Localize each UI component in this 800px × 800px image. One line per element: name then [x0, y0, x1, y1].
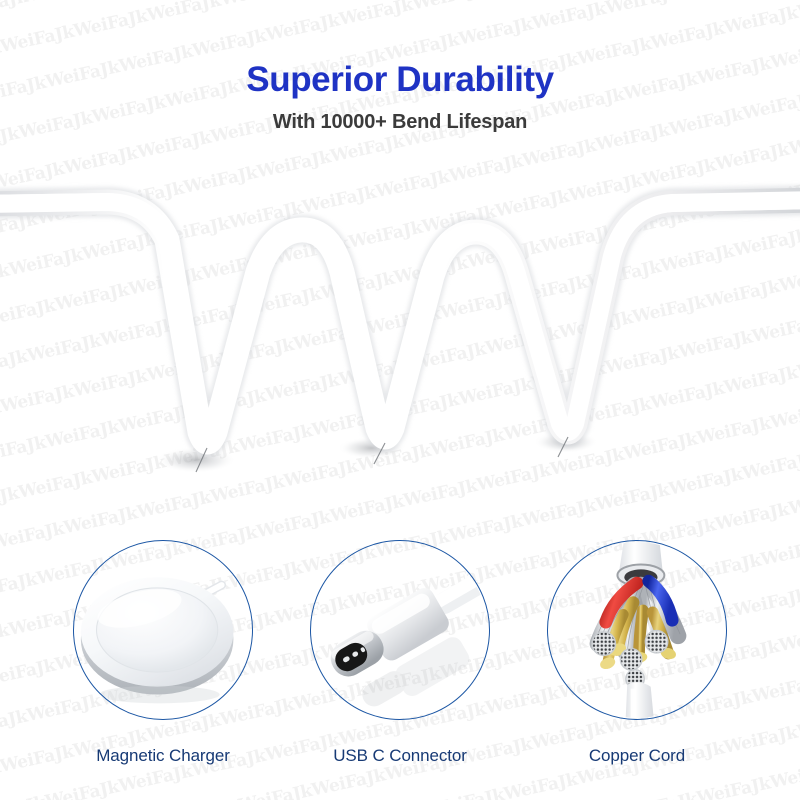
product-marketing-image: WeiFaJkWeiFaJkWeiFaJkWeiFaJkWeiFaJkWeiFa…: [0, 0, 800, 800]
watermark-text: WeiFaJk: [546, 793, 629, 800]
watermark-text: WeiFaJk: [647, 7, 730, 66]
headline-block: Superior Durability With 10000+ Bend Lif…: [0, 62, 800, 134]
feature-ring-3: [547, 540, 727, 720]
watermark-text: WeiFaJk: [455, 3, 538, 62]
watermark-text: WeiFaJk: [335, 0, 418, 42]
watermark-text: WeiFaJk: [793, 0, 800, 34]
feature-circle-1: [73, 540, 253, 720]
watermark-text: WeiFaJk: [289, 0, 372, 6]
feature-ring-1: [73, 540, 253, 720]
bent-cable-illustration: [0, 160, 800, 500]
feature-label-magnetic-charger: Magnetic Charger: [96, 746, 230, 766]
watermark-text: WeiFaJk: [353, 789, 436, 800]
feature-magnetic-charger[interactable]: Magnetic Charger: [45, 540, 282, 766]
feature-circle-3: [547, 540, 727, 720]
feature-ring-2: [310, 540, 490, 720]
watermark-text: WeiFaJk: [528, 0, 611, 46]
watermark-text: WeiFaJk: [96, 0, 179, 2]
watermark-text: WeiFaJk: [261, 0, 344, 57]
watermark-text: WeiFaJk: [143, 0, 226, 38]
feature-callout-row: Magnetic Charger: [0, 540, 800, 790]
watermark-text: WeiFaJk: [0, 0, 32, 34]
watermark-text: WeiFaJk: [720, 0, 800, 50]
watermark-row: WeiFaJkWeiFaJkWeiFaJkWeiFaJkWeiFaJkWeiFa…: [0, 0, 800, 29]
watermark-text: WeiFaJk: [482, 0, 565, 10]
feature-usb-c-connector[interactable]: USB C Connector: [282, 540, 519, 766]
watermark-text: WeiFaJk: [0, 10, 79, 69]
feature-label-usb-c-connector: USB C Connector: [333, 746, 467, 766]
watermark-text: WeiFaJk: [69, 0, 152, 53]
watermark-text: WeiFaJk: [408, 0, 491, 26]
watermark-text: WeiFaJk: [601, 0, 684, 30]
watermark-text: WeiFaJk: [23, 0, 106, 18]
feature-label-copper-cord: Copper Cord: [589, 746, 685, 766]
page-title: Superior Durability: [0, 62, 800, 99]
watermark-text: WeiFaJk: [216, 0, 299, 22]
feature-copper-cord[interactable]: Copper Cord: [519, 540, 756, 766]
watermark-row: WeiFaJkWeiFaJkWeiFaJkWeiFaJkWeiFaJkWeiFa…: [0, 791, 800, 800]
page-subtitle: With 10000+ Bend Lifespan: [0, 111, 800, 134]
watermark-text: WeiFaJk: [675, 0, 758, 14]
hero-cable-image: [0, 160, 800, 500]
feature-circle-2: [310, 540, 490, 720]
